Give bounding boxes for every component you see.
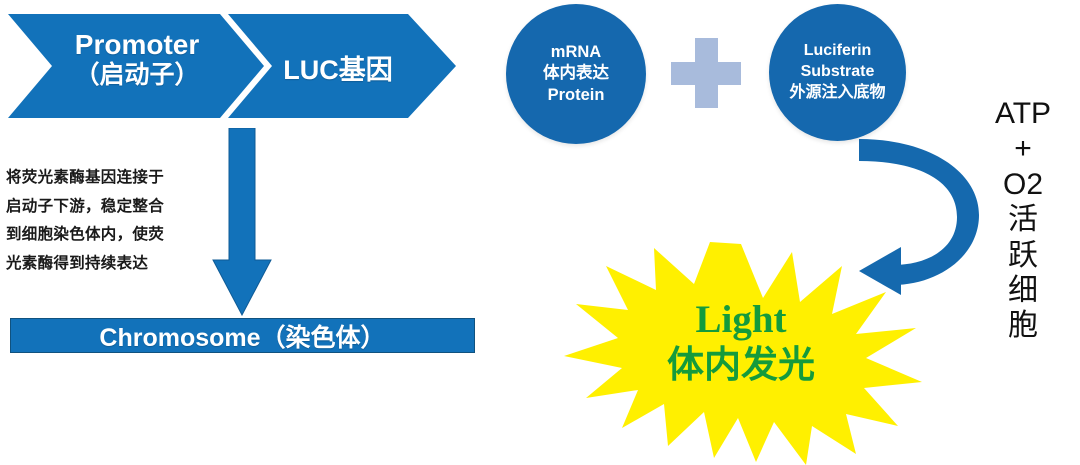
- promoter-label-en: Promoter: [75, 29, 199, 60]
- chromosome-bar: Chromosome（染色体）: [10, 318, 475, 353]
- construct-description: 将荧光素酶基因连接于 启动子下游，稳定整合 到细胞染色体内，使荧 光素酶得到持续…: [6, 164, 206, 279]
- description-line-3: 到细胞染色体内，使荧: [6, 221, 206, 250]
- cofactor-line-7: 胞: [985, 308, 1061, 343]
- gene-construct-arrow: Promoter （启动子） LUC基因: [8, 14, 458, 118]
- luc-gene-label: LUC基因: [253, 56, 423, 85]
- cofactor-line-4: 活: [985, 202, 1061, 237]
- plus-icon: [671, 38, 741, 108]
- cofactor-label: ATP + O2 活 跃 细 胞: [985, 96, 1061, 344]
- description-line-1: 将荧光素酶基因连接于: [6, 164, 206, 193]
- circle-mrna: mRNA 体内表达 Protein: [506, 4, 646, 144]
- circle-mrna-line-2: 体内表达: [543, 63, 609, 84]
- promoter-label: Promoter （启动子）: [42, 30, 232, 89]
- arrow-down-icon: [212, 128, 272, 316]
- circle-luciferin-line-3: 外源注入底物: [789, 83, 885, 104]
- diagram-canvas: Promoter （启动子） LUC基因 将荧光素酶基因连接于 启动子下游，稳定…: [0, 0, 1080, 465]
- description-line-2: 启动子下游，稳定整合: [6, 193, 206, 222]
- circle-mrna-line-3: Protein: [548, 85, 605, 106]
- chromosome-label: Chromosome（染色体）: [99, 318, 385, 354]
- circle-luciferin: Luciferin Substrate 外源注入底物: [769, 4, 906, 141]
- plus-icon-vertical-bar: [695, 38, 718, 108]
- cofactor-line-6: 细: [985, 273, 1061, 308]
- starburst-icon: [560, 240, 922, 465]
- light-starburst: Light 体内发光: [560, 240, 922, 465]
- integration-down-arrow: [212, 128, 272, 316]
- cofactor-line-3: O2: [985, 167, 1061, 202]
- cofactor-line-2: +: [985, 131, 1061, 166]
- cofactor-line-5: 跃: [985, 238, 1061, 273]
- circle-luciferin-line-2: Substrate: [801, 62, 875, 83]
- circle-luciferin-line-1: Luciferin: [804, 41, 872, 62]
- cofactor-line-1: ATP: [985, 96, 1061, 131]
- promoter-label-cn: （启动子）: [74, 61, 199, 89]
- circle-mrna-line-1: mRNA: [551, 42, 601, 63]
- description-line-4: 光素酶得到持续表达: [6, 250, 206, 279]
